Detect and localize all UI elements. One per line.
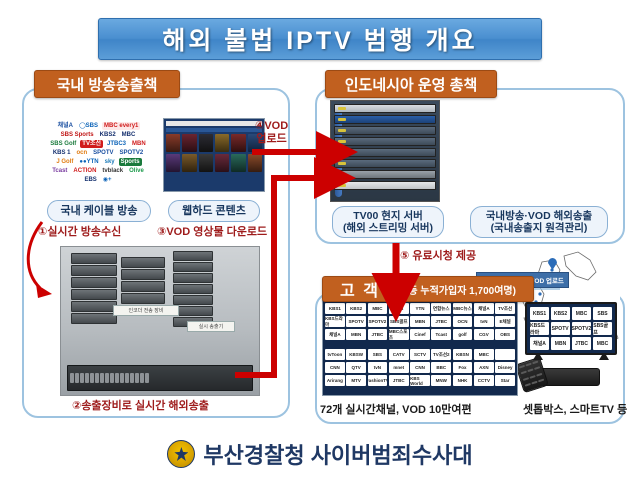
channel-cell: MBN [410,316,430,327]
webhard-titlebar [166,121,262,126]
logo-chip: KBS2 [98,131,118,139]
channel-cell: MBC [368,303,388,314]
channel-cell: SPOTV2 [368,316,388,327]
channel-cell: CNN [325,362,345,373]
rack-unit [334,126,436,135]
logo-chip: Tcast [50,167,69,175]
channel-row: CNN QTV tvN mnet CNN BBC Fox AXN Disney [325,362,515,373]
customer-tab-main: 고 객 [340,277,380,301]
logo-chip: MBC [120,131,138,139]
channel-cell: golf [453,329,473,340]
rf-port [130,373,134,383]
poster-thumb [182,154,196,172]
encoder-unit [173,273,213,283]
encoder-unit [121,269,165,280]
poster-thumb [231,134,245,152]
rf-port [80,373,84,383]
channel-grid-divider [325,342,515,347]
webhard-poster-grid [166,134,262,172]
channel-cell: Disney [495,362,515,373]
channel-cell: tvToon [325,349,345,360]
channel-cell: KBS World [410,375,430,386]
pill-domestic-cable-label: 국내 케이블 방송 [61,205,138,218]
customer-tab-sub: (교민 등 누적가입자 1,700여명) [384,282,516,297]
channel-cell: Cinef [410,329,430,340]
panel-domestic-tab: 국내 방송송출책 [34,70,180,98]
poster-thumb [199,154,213,172]
rf-port [125,373,129,383]
step-5-label: ⑤ 유료시청 제공 [400,250,476,263]
logo-chip: SPOTV2 [118,149,146,157]
channel-cell: 채널A [474,303,494,314]
tv-channel-cell: 채널A [530,337,549,350]
remote-button [521,371,527,375]
remote-button [536,372,542,376]
rack-unit [334,115,436,124]
encoder-unit [173,251,213,261]
smart-tv-device: KBS1 KBS2 MBC SBS KBS드라마 SPOTV SPOTV2 SB… [525,302,617,361]
pill-local-server: TV00 현지 서버 (해외 스트리밍 서버) [332,206,444,238]
logo-chip: KBS 1 [51,149,73,157]
channel-cell: KBS2 [346,303,366,314]
channel-cell: OCN [453,316,473,327]
logo-chip: EBS [82,176,98,184]
indonesia-server-rack-photo [330,100,440,202]
rack-unit [334,137,436,146]
pill-webhard-content-label: 웹하드 콘텐츠 [182,205,246,218]
channel-cell: KBS드라마 [325,316,345,327]
rf-port [95,373,99,383]
encoder-unit [71,265,117,276]
tv-channel-cell: SPOTV [551,322,570,335]
rack-unit [334,181,436,190]
channel-cell: JTBC [368,329,388,340]
channel-cell: E채널 [495,316,515,327]
footer-agency: 부산경찰청 사이버범죄수사대 [0,438,640,470]
rf-port [75,373,79,383]
channel-cell: mnet [389,362,409,373]
logo-chip: Olive [127,167,146,175]
broadcaster-logo-collage: 채널A ◯SBS MBC every1 SBS Sports KBS2 MBC … [44,112,152,194]
channel-cell: tvN [474,316,494,327]
tv-channel-row: KBS드라마 SPOTV SPOTV2 SBS골프 [530,322,612,335]
remote-button [525,363,531,367]
encoder-unit [71,277,117,288]
channel-cell: Star [495,375,515,386]
poster-thumb [166,154,180,172]
pill-domestic-cable: 국내 케이블 방송 [47,200,151,222]
channel-cell: KBSN [453,349,473,360]
encoder-unit [173,284,213,294]
remote-button [534,366,540,370]
channel-cell: SPOTV [346,316,366,327]
channel-cell: FashionTV [368,375,388,386]
rf-port [90,373,94,383]
logo-chip: ●●YTN [77,158,100,166]
remote-button [519,365,525,369]
channel-cell: CNN [410,362,430,373]
tv-channel-cell: MBC [572,307,591,320]
logo-chip: JTBC3 [105,140,128,148]
logo-chip: SBS Sports [59,131,96,139]
channel-row: tvToon KBSW SBS CATV SCTV TV조선2 KBSN MBC [325,349,515,360]
channel-cell: KBS1 [325,303,345,314]
remote-button [525,383,531,387]
logo-chip: ◯SBS [77,122,100,130]
channel-cell: Fox [453,362,473,373]
poster-thumb [166,134,180,152]
rack-unit [334,170,436,179]
encoder-unit [71,313,117,324]
pill-overseas-line2: (국내송출지 원격관리) [491,222,588,234]
logo-chip: SPOTV [91,149,115,157]
step-4-label: ④VOD 업로드 [255,120,288,146]
poster-thumb [215,154,229,172]
channel-cell: Arirang [325,375,345,386]
channel-cell: MBC뉴스 [453,303,473,314]
page-title: 해외 불법 IPTV 범행 개요 [162,21,477,57]
tv-channel-cell: SBS골프 [593,322,612,335]
poster-thumb [199,134,213,152]
channel-cell: YTN [410,303,430,314]
step-4-line2: 업로드 [255,133,288,146]
logo-chip: MBC every1 [102,122,140,130]
encoder-stack-right [173,251,213,327]
channel-cell: SBS [368,349,388,360]
tv-channel-cell: MBN [551,337,570,350]
logo-chip: ocn [74,149,89,157]
channel-cell: CGV [474,329,494,340]
poster-thumb [215,134,229,152]
channel-cell: JTBC [431,316,451,327]
channel-cell: TV조선2 [431,349,451,360]
tv-channel-cell: SPOTV2 [572,322,592,335]
channel-cell: JTBC [389,375,409,386]
poster-thumb [231,154,245,172]
caption-devices: 셋톱박스, 스마트TV 등 [523,401,627,417]
remote-button [531,380,537,384]
encoder-unit [121,257,165,268]
channel-cell: MBC스포츠 [389,329,409,340]
encoder-unit [71,253,117,264]
tv-channel-cell: KBS드라마 [530,322,549,335]
encoder-unit [71,301,117,312]
tv-channel-cell: JTBC [572,337,591,350]
channel-row: 채널A MBN JTBC MBC스포츠 Cinef Tcast golf CGV… [325,329,515,340]
webhard-navbar [166,128,262,132]
encoder-unit [121,293,165,304]
tv-channel-row: 채널A MBN JTBC MBC [530,337,612,350]
rack-unit [334,104,436,113]
channel-cell: BBC [431,362,451,373]
equipment-tag-encoder: 인코더 전송 장비 [113,305,179,316]
tv-channel-cell: MBC [593,337,612,350]
pill-overseas-transmission: 국내방송·VOD 해외송출 (국내송출지 원격관리) [470,206,608,238]
channel-cell: MNW [431,375,451,386]
channel-cell: NHK [453,375,473,386]
poster-thumb [182,134,196,152]
encoder-unit [121,281,165,292]
encoder-unit [71,289,117,300]
rf-port [115,373,119,383]
pill-local-server-line2: (해외 스트리밍 서버) [343,222,433,234]
channel-cell: AXN [474,362,494,373]
channel-row: KBS1 KBS2 MBC SBS YTN 연합뉴스 MBC뉴스 채널A TV조… [325,303,515,314]
remote-button [538,378,544,382]
transmission-equipment-photo: 인코더 전송 장비 실시 송출기 [60,246,260,396]
channel-cell: 연합뉴스 [431,303,451,314]
rf-port [135,373,139,383]
caption-channels: 72개 실시간채널, VOD 10만여편 [320,401,472,417]
channel-cell: SBS골프 [389,316,409,327]
tv-stand [525,355,617,361]
iptv-channel-lineup: KBS1 KBS2 MBC SBS YTN 연합뉴스 MBC뉴스 채널A TV조… [322,300,518,396]
rack-unit [334,159,436,168]
channel-cell: KBSW [346,349,366,360]
step-1-label: ①실시간 방송수신 [38,226,121,239]
tv-screen: KBS1 KBS2 MBC SBS KBS드라마 SPOTV SPOTV2 SB… [525,302,617,355]
logo-chip: TV조선 [80,140,103,148]
channel-cell: 채널A [325,329,345,340]
page-title-banner: 해외 불법 IPTV 범행 개요 [98,18,542,60]
tv-channel-row: KBS1 KBS2 MBC SBS [530,307,612,320]
equipment-tag-transmitter: 실시 송출기 [187,321,235,332]
channel-cell: CCTV [474,375,494,386]
encoder-unit [173,306,213,316]
rack-unit [334,148,436,157]
channel-cell: QTV [346,362,366,373]
rf-port [120,373,124,383]
rf-port [140,373,144,383]
step-2-label: ②송출장비로 실시간 해외송출 [72,400,209,413]
rf-port [70,373,74,383]
tv-channel-cell: SBS [593,307,612,320]
channel-cell: SBS [389,303,409,314]
logo-chip: SBS Golf [48,140,78,148]
footer-agency-label: 부산경찰청 사이버범죄수사대 [203,438,472,470]
channel-cell: CATV [389,349,409,360]
step-4-line1: ④VOD [255,120,288,133]
remote-button [532,360,538,364]
channel-cell: MTV [346,375,366,386]
pill-webhard-content: 웹하드 콘텐츠 [168,200,260,222]
tv-channel-cell: KBS2 [551,307,570,320]
panel-customer-tab: 고 객 (교민 등 누적가입자 1,700여명) [322,276,534,302]
rf-port [105,373,109,383]
logo-chip: 채널A [56,122,75,130]
poster-thumb [248,154,262,172]
channel-row: Arirang MTV FashionTV JTBC KBS World MNW… [325,375,515,386]
channel-cell: TV조선 [495,303,515,314]
webhard-site-screenshot [163,118,265,192]
encoder-stack-left [71,253,117,324]
police-emblem-icon [167,440,195,468]
encoder-unit [173,262,213,272]
tv-channel-cell: KBS1 [530,307,549,320]
encoder-unit [173,295,213,305]
logo-chip: J Golf [54,158,75,166]
channel-row: KBS드라마 SPOTV SPOTV2 SBS골프 MBN JTBC OCN t… [325,316,515,327]
rf-port [85,373,89,383]
channel-cell: OBS [495,329,515,340]
rf-port [145,373,149,383]
pill-overseas-line1: 국내방송·VOD 해외송출 [486,210,592,222]
logo-chip: ◉+ [101,176,114,184]
channel-cell: SCTV [410,349,430,360]
channel-cell: MBN [346,329,366,340]
channel-cell [495,349,515,360]
rf-port [100,373,104,383]
channel-cell: Tcast [431,329,451,340]
pill-local-server-line1: TV00 현지 서버 [353,210,423,222]
logo-chip: Sports [119,158,142,166]
logo-chip: ACTION [71,167,98,175]
logo-chip: tvblack [100,167,125,175]
channel-cell: MBC [474,349,494,360]
logo-chip: MBN [130,140,148,148]
panel-indonesia-tab: 인도네시아 운영 총책 [325,70,497,98]
modulator-chassis [67,365,253,391]
rf-port [110,373,114,383]
step-3-label: ③VOD 영상물 다운로드 [157,226,267,239]
remote-button [527,369,533,373]
logo-chip: sky [103,158,117,166]
remote-button [523,377,529,381]
remote-button [529,375,535,379]
channel-cell: tvN [368,362,388,373]
